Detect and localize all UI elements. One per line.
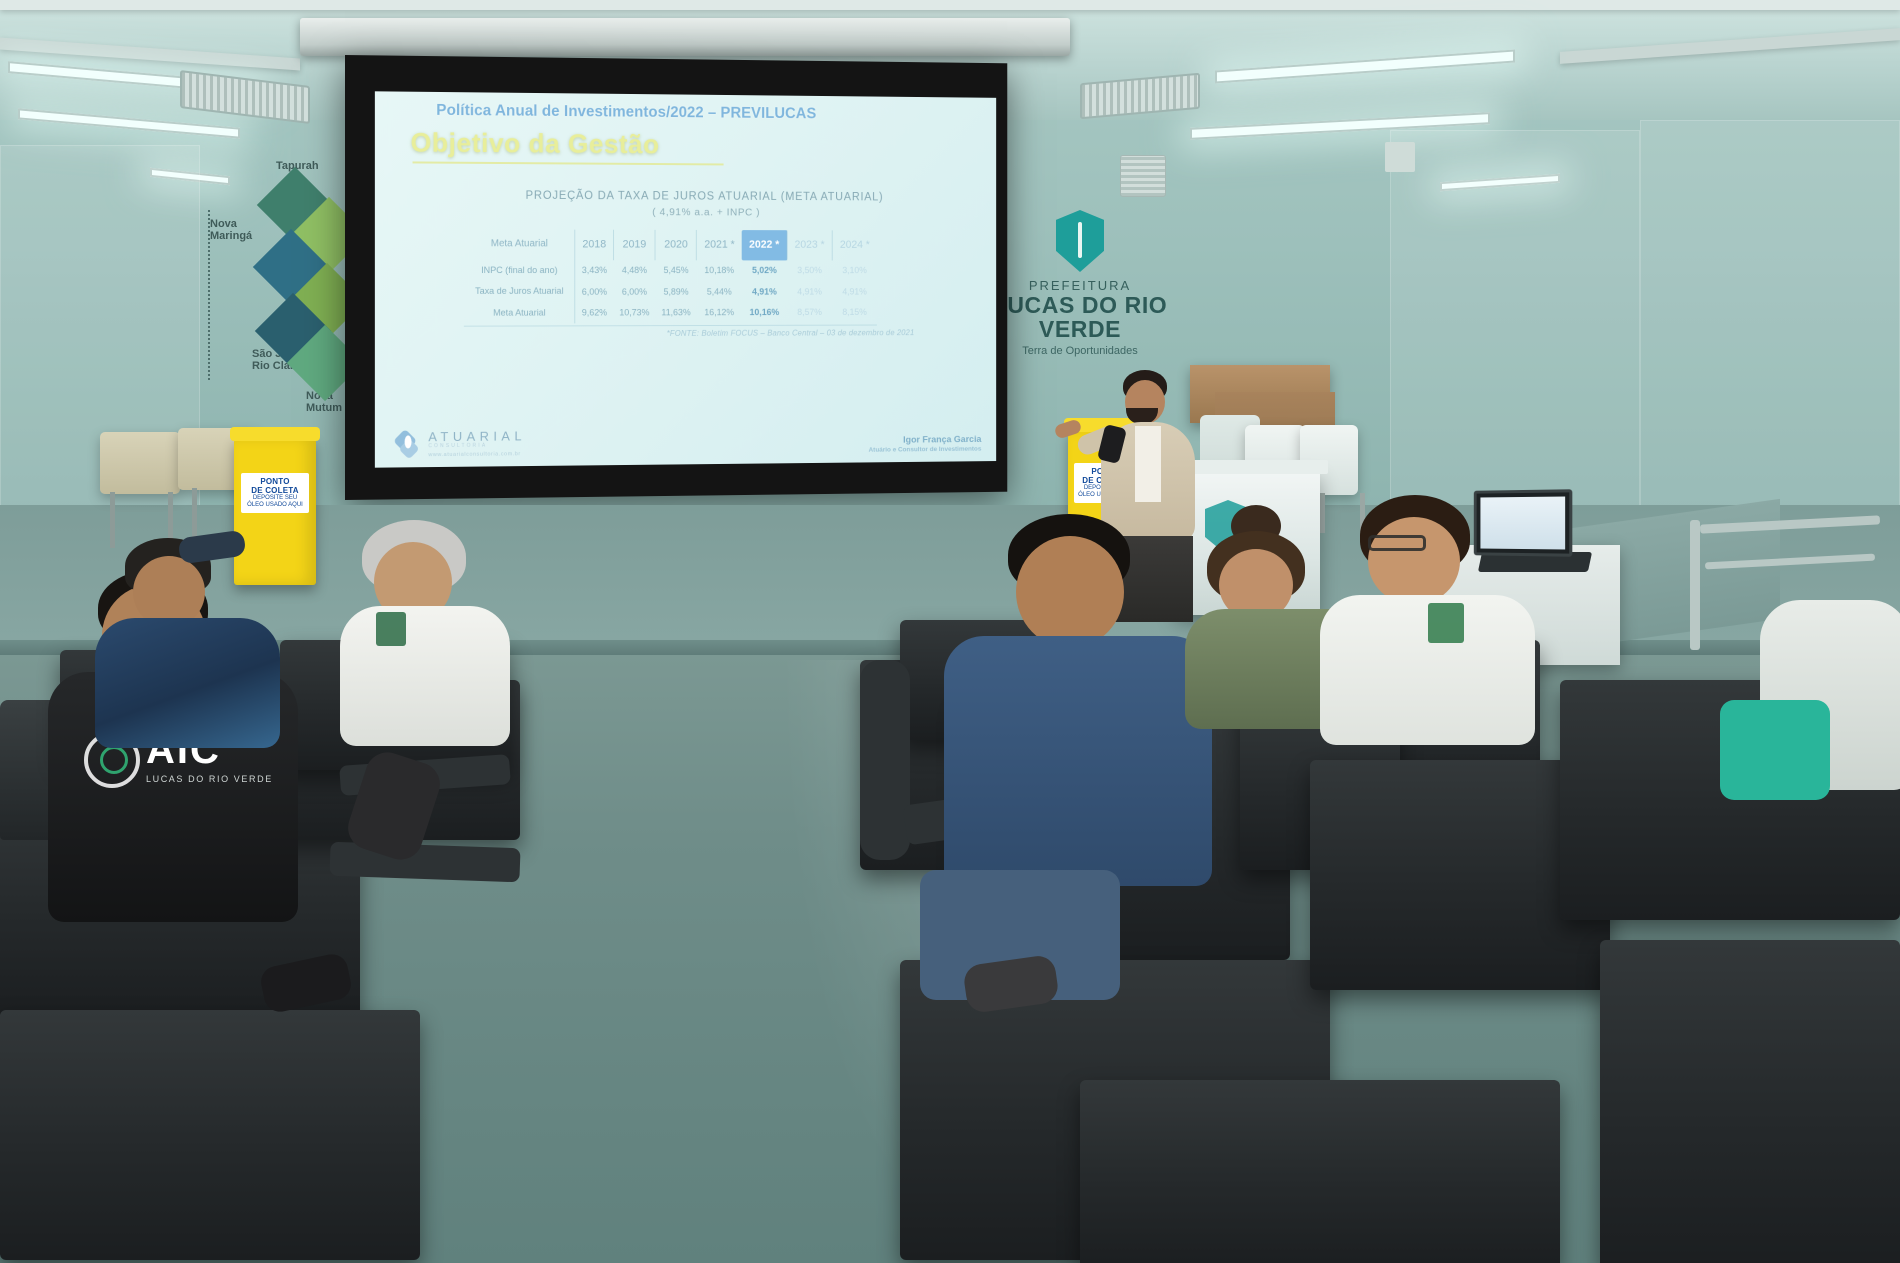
cell-inpc-2024: 3,10%	[832, 260, 877, 281]
atuarial-logo-icon	[395, 429, 421, 459]
tshirt-logo-inner-icon	[100, 746, 128, 774]
table-footnote: *FONTE: Boletim FOCUS – Banco Central – …	[393, 328, 983, 339]
table-col-2023: 2023 *	[787, 230, 832, 260]
brand-subtitle: CONSULTORIA	[428, 443, 526, 449]
prefeitura-emblem-icon	[1056, 210, 1104, 272]
brand-url: www.atuarialconsultoria.com.br	[428, 452, 526, 459]
bin-label-line2: DE COLETA	[243, 486, 308, 495]
table-row: Taxa de Juros Atuarial 6,00% 6,00% 5,89%…	[464, 281, 877, 302]
table-row: INPC (final do ano) 3,43% 4,48% 5,45% 10…	[464, 260, 877, 281]
audience-person-glasses	[1320, 495, 1540, 745]
row-label-meta-atuarial: Meta Atuarial	[464, 302, 575, 324]
table-corner-header: Meta Atuarial	[464, 229, 575, 259]
table-bottom-rule	[464, 325, 877, 327]
handrail-post	[1690, 520, 1700, 650]
person-polo-shirt	[944, 636, 1212, 886]
cell-taxa-2019: 6,00%	[613, 281, 655, 302]
logo-line-tagline: Terra de Oportunidades	[985, 345, 1175, 357]
table-col-2021: 2021 *	[697, 230, 742, 260]
seat-armrest	[329, 842, 520, 883]
slide-title-underline	[413, 161, 724, 165]
cell-taxa-2021: 5,44%	[697, 281, 742, 302]
slide-subtitle: PROJEÇÃO DA TAXA DE JUROS ATUARIAL (META…	[393, 189, 983, 204]
row-label-inpc: INPC (final do ano)	[464, 260, 575, 281]
table-col-2019: 2019	[613, 230, 655, 260]
meta-atuarial-table: Meta Atuarial 2018 2019 2020 2021 * 2022…	[464, 229, 877, 323]
table-col-2022-highlight: 2022 *	[742, 230, 787, 260]
cell-meta-2022: 10,16%	[742, 302, 787, 323]
atuarial-brand: ATUARIAL CONSULTORIA www.atuarialconsult…	[395, 428, 526, 459]
person-white-shirt	[340, 606, 510, 746]
ceiling-beam	[0, 0, 1900, 10]
baseball-cap	[178, 530, 247, 565]
presenter-shirt	[1135, 426, 1161, 502]
presenter-name: Igor França Garcia	[869, 434, 982, 447]
presenter-role: Atuário e Consultor de Investimentos	[869, 445, 982, 454]
slide-presenter-credit: Igor França Garcia Atuário e Consultor d…	[869, 434, 982, 455]
cell-meta-2019: 10,73%	[613, 302, 655, 323]
bin-label-line1: PONTO	[243, 477, 308, 486]
beige-chair[interactable]	[100, 432, 180, 494]
table-header-row: Meta Atuarial 2018 2019 2020 2021 * 2022…	[464, 229, 877, 260]
cell-taxa-2023: 4,91%	[787, 281, 832, 302]
cell-inpc-2022: 5,02%	[742, 260, 787, 281]
cell-meta-2023: 8,57%	[787, 302, 832, 323]
audience-seat[interactable]	[1600, 940, 1900, 1263]
row-label-taxa-juros: Taxa de Juros Atuarial	[464, 281, 575, 302]
cell-inpc-2018: 3,43%	[575, 260, 613, 281]
logo-line-city: LUCAS DO RIO VERDE	[985, 293, 1175, 341]
slide-subtitle-secondary: ( 4,91% a.a. + INPC )	[393, 205, 983, 219]
table-col-2020: 2020	[655, 230, 696, 260]
slide-canvas: Política Anual de Investimentos/2022 – P…	[375, 91, 996, 467]
cell-meta-2021: 16,12%	[697, 302, 742, 323]
audience-person-far-right	[1760, 600, 1900, 860]
wall-panel	[1640, 120, 1900, 540]
prefeitura-logo: PREFEITURA LUCAS DO RIO VERDE Terra de O…	[985, 210, 1175, 357]
projector-screen-housing	[300, 18, 1070, 56]
person-head	[1016, 536, 1124, 648]
cell-meta-2018: 9,62%	[575, 302, 613, 323]
person-garment	[1720, 700, 1830, 800]
audience-person-grey-hair	[340, 520, 520, 750]
audience-seat[interactable]	[0, 1010, 420, 1260]
cell-inpc-2020: 5,45%	[655, 260, 696, 281]
wall-panel	[1390, 130, 1640, 520]
eyeglasses-icon	[1368, 535, 1426, 551]
cell-meta-2020: 11,63%	[655, 302, 696, 323]
bin-label-line4: ÓLEO USADO AQUI	[243, 502, 308, 509]
cell-taxa-2024: 4,91%	[832, 281, 877, 302]
logo-line-prefeitura: PREFEITURA	[985, 278, 1175, 293]
table-row: Meta Atuarial 9,62% 10,73% 11,63% 16,12%…	[464, 302, 877, 324]
audience-person-cap	[95, 530, 285, 730]
wall-box	[1385, 142, 1415, 172]
shirt-crest-icon	[376, 612, 406, 646]
person-patterned-shirt	[95, 618, 280, 748]
bin-label-line3: DEPOSITE SEU	[243, 495, 308, 502]
table-col-2024: 2024 *	[832, 230, 877, 260]
auditorium-scene: Tapurah Nova Maringá São José do Rio Cla…	[0, 0, 1900, 1263]
shirt-crest-icon	[1428, 603, 1464, 643]
tshirt-brand-sub: LUCAS DO RIO VERDE	[146, 774, 273, 784]
wall-speaker	[1120, 155, 1166, 197]
cell-inpc-2021: 10,18%	[697, 260, 742, 281]
bin-label: PONTO DE COLETA DEPOSITE SEU ÓLEO USADO …	[241, 473, 310, 513]
table-col-2018: 2018	[575, 230, 613, 260]
slide-title: Objetivo da Gestão	[411, 128, 984, 163]
cell-taxa-2020: 5,89%	[655, 281, 696, 302]
presentation-slide: Política Anual de Investimentos/2022 – P…	[375, 91, 996, 467]
seat-armrest	[860, 660, 910, 860]
slide-kicker: Política Anual de Investimentos/2022 – P…	[436, 102, 983, 125]
cell-taxa-2018: 6,00%	[575, 281, 613, 302]
cell-meta-2024: 8,15%	[832, 302, 877, 323]
person-head	[1368, 517, 1460, 605]
audience-seat[interactable]	[1080, 1080, 1560, 1263]
cell-taxa-2022: 4,91%	[742, 281, 787, 302]
cell-inpc-2019: 4,48%	[613, 260, 655, 281]
slide-footer: ATUARIAL CONSULTORIA www.atuarialconsult…	[395, 425, 982, 460]
atuarial-wordmark: ATUARIAL CONSULTORIA www.atuarialconsult…	[428, 429, 526, 459]
cell-inpc-2023: 3,50%	[787, 260, 832, 281]
bin-lid	[230, 427, 320, 441]
projection-screen: Política Anual de Investimentos/2022 – P…	[345, 55, 1007, 500]
